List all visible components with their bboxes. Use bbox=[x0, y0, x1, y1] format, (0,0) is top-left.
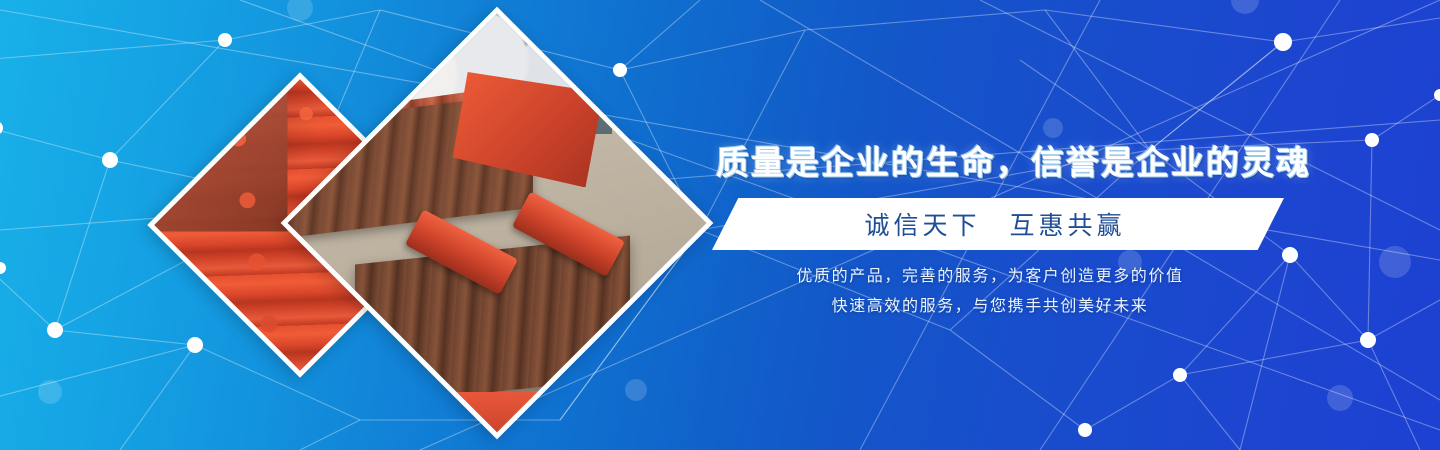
subcopy-line-2: 快速高效的服务，与您携手共创美好未来 bbox=[700, 292, 1280, 322]
slogan-ribbon: 诚信天下 互惠共赢 bbox=[712, 198, 1284, 250]
banner-headline: 质量是企业的生命，信誉是企业的灵魂 bbox=[716, 136, 1264, 184]
banner-subcopy: 优质的产品，完善的服务，为客户创造更多的价值 快速高效的服务，与您携手共创美好未… bbox=[700, 262, 1280, 322]
slogan-ribbon-text: 诚信天下 互惠共赢 bbox=[712, 198, 1284, 250]
subcopy-line-1: 优质的产品，完善的服务，为客户创造更多的价值 bbox=[700, 262, 1280, 292]
promo-banner: 质量是企业的生命，信誉是企业的灵魂 诚信天下 互惠共赢 优质的产品，完善的服务，… bbox=[0, 0, 1440, 450]
